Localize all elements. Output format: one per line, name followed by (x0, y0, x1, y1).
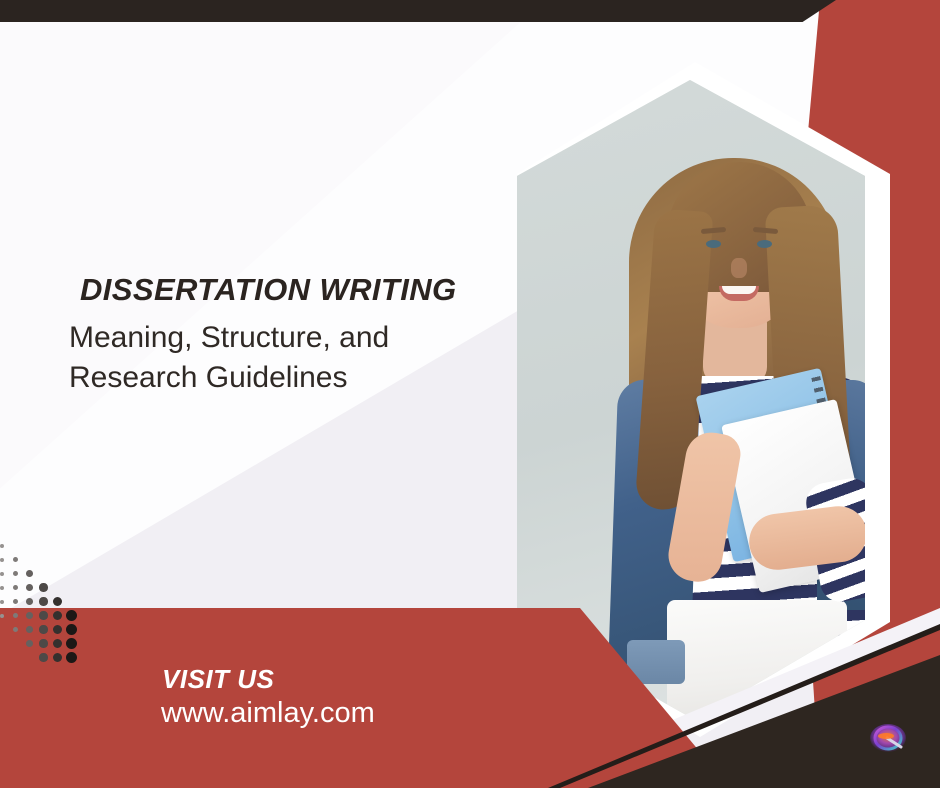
halftone-dot (39, 583, 47, 591)
halftone-dot (66, 652, 77, 663)
halftone-dot (0, 544, 4, 548)
halftone-dot (53, 625, 63, 635)
halftone-dot (39, 639, 47, 647)
website-link[interactable]: www.aimlay.com (161, 697, 375, 730)
halftone-dot (53, 653, 63, 663)
halftone-dot (13, 627, 18, 632)
halftone-dot (0, 586, 4, 590)
halftone-dot (0, 614, 4, 618)
nose (731, 258, 747, 278)
teeth (722, 286, 756, 294)
halftone-dot (13, 571, 18, 576)
halftone-dot (53, 597, 63, 607)
halftone-dot (53, 611, 63, 621)
halftone-dot (26, 640, 33, 647)
halftone-dot (66, 638, 77, 649)
halftone-dot (13, 557, 18, 562)
halftone-dot (39, 653, 47, 661)
halftone-dot (26, 584, 33, 591)
halftone-dot (0, 558, 4, 562)
eye-left (706, 240, 721, 248)
halftone-dot (13, 585, 18, 590)
halftone-dot (13, 613, 18, 618)
cta-label: VISIT US (162, 664, 274, 695)
halftone-dot-pattern (0, 540, 86, 670)
aimlay-logo-icon[interactable] (867, 721, 909, 755)
halftone-dot (53, 639, 63, 649)
photo-content (517, 80, 865, 720)
eye-right (757, 240, 772, 248)
halftone-dot (0, 572, 4, 576)
halftone-dot (26, 612, 33, 619)
halftone-dot (26, 570, 33, 577)
page-title: DISSERTATION WRITING (80, 272, 457, 308)
promotional-banner: DISSERTATION WRITING Meaning, Structure,… (0, 0, 940, 788)
halftone-dot (0, 600, 4, 604)
halftone-dot (26, 626, 33, 633)
halftone-dot (66, 624, 77, 635)
halftone-dot (39, 611, 47, 619)
top-dark-bar (0, 0, 836, 22)
student-photo (517, 80, 865, 720)
halftone-dot (26, 598, 33, 605)
halftone-dot (39, 625, 47, 633)
denim-cuff (627, 640, 685, 684)
halftone-dot (66, 610, 77, 621)
page-subtitle: Meaning, Structure, and Research Guideli… (69, 318, 499, 398)
halftone-dot (13, 599, 18, 604)
halftone-dot (39, 597, 47, 605)
